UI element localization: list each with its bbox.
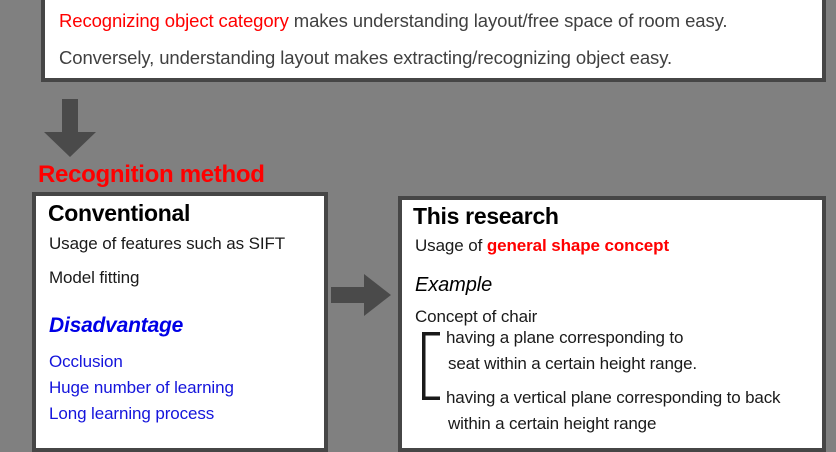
- chair-item-2-line-1: having a vertical plane corresponding to…: [446, 388, 780, 408]
- chair-concept-bracket-group: having a plane corresponding to seat wit…: [422, 328, 822, 438]
- statement-box: Recognizing object category makes unders…: [41, 0, 826, 82]
- panel-conventional: Conventional Usage of features such as S…: [32, 192, 328, 452]
- conventional-model-line: Model fitting: [49, 268, 139, 288]
- statement-line-1: Recognizing object category makes unders…: [59, 10, 727, 32]
- chair-item-2-line-2: within a certain height range: [448, 414, 656, 434]
- slide-canvas: Recognizing object category makes unders…: [0, 0, 836, 447]
- panel-this-research-title: This research: [413, 203, 559, 230]
- arrow-down-icon: [44, 99, 96, 157]
- disadvantage-heading: Disadvantage: [49, 314, 183, 338]
- statement-line-2: Conversely, understanding layout makes e…: [59, 47, 672, 69]
- statement-line-1-rest: makes understanding layout/free space of…: [289, 10, 728, 31]
- disadvantage-item: Huge number of learning: [49, 378, 234, 398]
- example-heading: Example: [415, 274, 492, 297]
- chair-item-1-line-2: seat within a certain height range.: [448, 354, 697, 374]
- statement-emphasis: Recognizing object category: [59, 10, 289, 31]
- research-usage-line: Usage of general shape concept: [415, 236, 669, 256]
- bracket-icon: [422, 328, 446, 430]
- disadvantage-item: Long learning process: [49, 404, 214, 424]
- conventional-usage-line: Usage of features such as SIFT: [49, 234, 285, 254]
- disadvantage-item: Occlusion: [49, 352, 123, 372]
- panel-this-research: This research Usage of general shape con…: [398, 196, 826, 452]
- panel-conventional-title: Conventional: [48, 200, 190, 227]
- section-label-recognition-method: Recognition method: [38, 161, 265, 189]
- research-usage-prefix: Usage of: [415, 236, 487, 255]
- concept-of-chair-line: Concept of chair: [415, 307, 537, 327]
- research-usage-emphasis: general shape concept: [487, 236, 669, 255]
- chair-item-1-line-1: having a plane corresponding to: [446, 328, 683, 348]
- arrow-right-icon: [331, 274, 391, 316]
